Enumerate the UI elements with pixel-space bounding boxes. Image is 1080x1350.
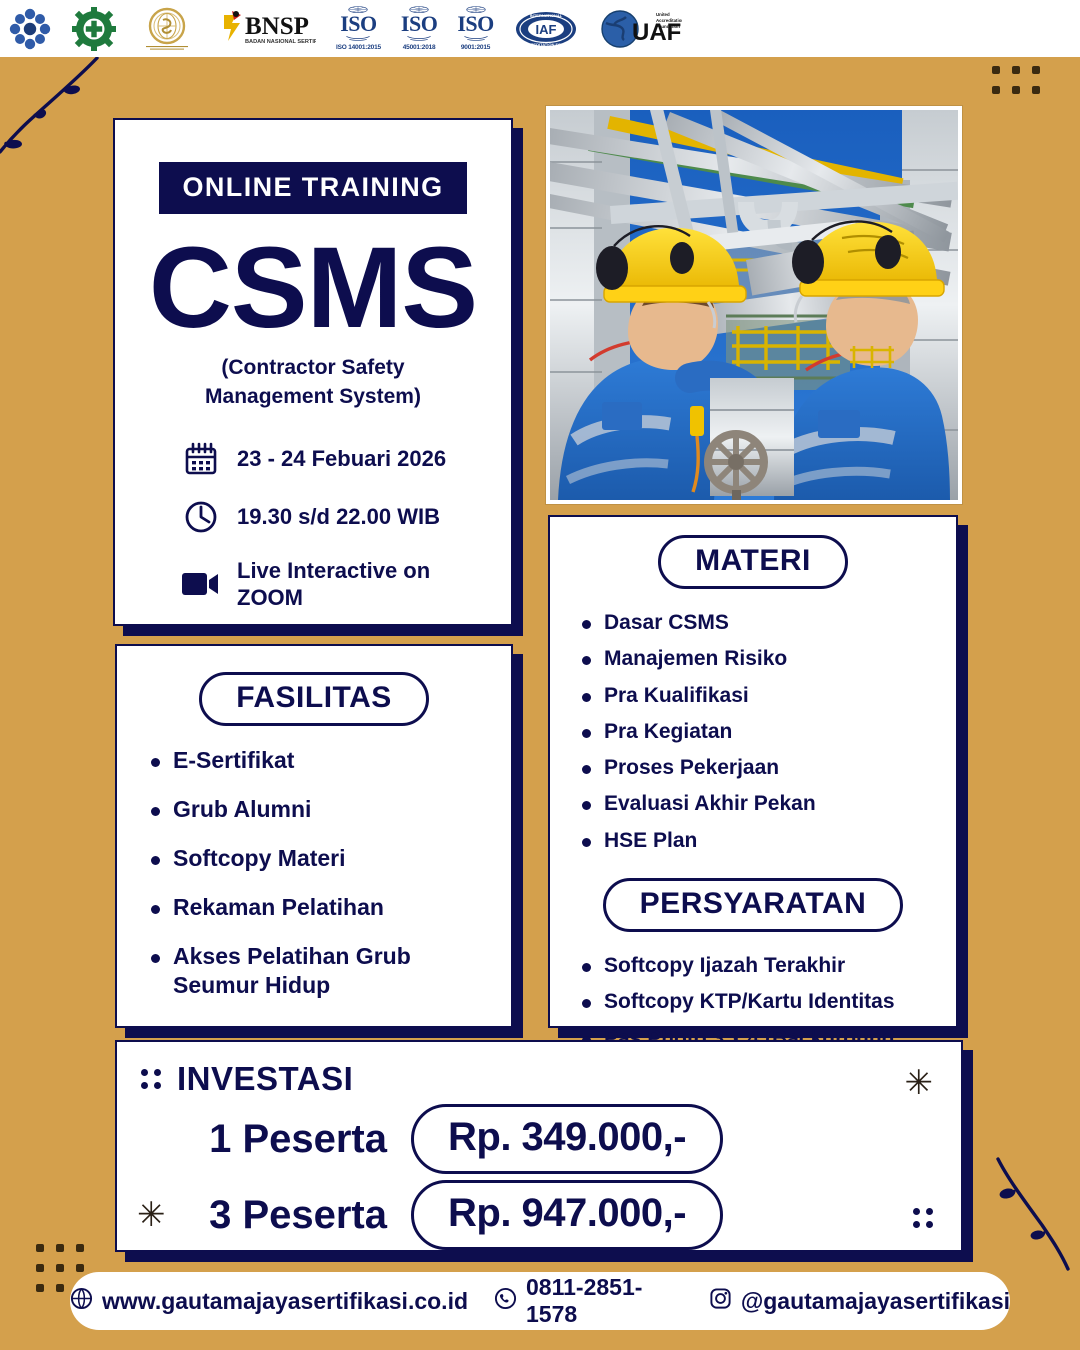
price-value: Rp. 349.000,- [411,1104,723,1174]
persyaratan-heading-wrap: PERSYARATAN [570,878,936,932]
iso-word: ISO [457,13,493,35]
list-item: Softcopy KTP/Kartu Identitas [570,988,936,1015]
contact-footer: www.gautamajayasertifikasi.co.id 0811-28… [70,1272,1010,1330]
k3-gear-cross-logo [72,6,116,52]
calendar-icon [181,441,221,477]
subtitle-line-2: Management System) [141,383,485,411]
price-value: Rp. 947.000,- [411,1180,723,1250]
video-camera-icon [181,569,221,599]
certification-logo-strip: BNSP BADAN NASIONAL SERTIFIKASI PROFESI … [0,0,1080,57]
list-item: E-Sertifikat [137,746,491,776]
iso-9001-logo: ISO 9001:2015 [457,6,493,52]
clock-icon [181,499,221,535]
svg-text:INTERNATIONAL: INTERNATIONAL [530,13,563,18]
fasilitas-list: E-Sertifikat Grub Alumni Softcopy Materi… [137,746,491,1001]
svg-text:Accreditation: Accreditation [656,18,682,23]
svg-text:IAF: IAF [535,22,556,37]
website-contact[interactable]: www.gautamajayasertifikasi.co.id [70,1287,468,1316]
list-item: Rekaman Pelatihan [137,893,491,923]
list-item: Dasar CSMS [570,609,936,636]
training-details: 23 - 24 Febuari 2026 19.30 s/d 22.00 WIB… [181,441,485,612]
bnsp-logo: BNSP BADAN NASIONAL SERTIFIKASI PROFESI [218,6,316,52]
investasi-card: INVESTASI 1 Peserta Rp. 349.000,- 3 Pese… [115,1040,963,1252]
list-item: Grub Alumni [137,795,491,825]
online-training-badge: ONLINE TRAINING [159,162,467,214]
dot-grid-top-right [992,66,1040,94]
list-item: Pra Kegiatan [570,718,936,745]
subtitle-line-1: (Contractor Safety [141,354,485,382]
detail-date: 23 - 24 Febuari 2026 [181,441,485,477]
iso-standard-label: 9001:2015 [461,45,490,52]
persyaratan-heading: PERSYARATAN [603,878,904,932]
svg-text:BNSP: BNSP [245,13,309,40]
price-label: 3 Peserta [187,1193,387,1238]
svg-text:ACCREDITATION FORUM: ACCREDITATION FORUM [522,42,571,47]
hero-card: ONLINE TRAINING CSMS (Contractor Safety … [113,118,513,626]
gautama-jaya-cluster-logo [8,6,52,52]
phone-contact[interactable]: 0811-2851-1578 [494,1274,683,1328]
company-seal-logo [136,6,198,52]
list-item: Manajemen Risiko [570,645,936,672]
investasi-heading: INVESTASI [177,1060,353,1098]
price-label: 1 Peserta [187,1117,387,1162]
list-item: Akses Pelatihan Grub Seumur Hidup [137,942,491,1002]
iaf-logo: IAF INTERNATIONAL ACCREDITATION FORUM [514,6,578,52]
detail-platform-text: Live Interactive on ZOOM [237,557,485,612]
website-text: www.gautamajayasertifikasi.co.id [102,1288,468,1315]
iso-14001-logo: ISO ISO 14001:2015 [336,6,381,52]
iso-word: ISO [401,13,437,35]
list-item: HSE Plan [570,827,936,854]
materi-heading-wrap: MATERI [570,535,936,589]
list-item: Softcopy Materi [137,844,491,874]
svg-text:Foundation: Foundation [656,24,680,29]
uaf-logo: UAF United Accreditation Foundation [598,6,682,52]
page-title: CSMS [141,226,485,350]
fasilitas-card: FASILITAS E-Sertifikat Grub Alumni Softc… [115,644,513,1028]
mini-dot-decoration [141,1069,161,1089]
instagram-contact[interactable]: @gautamajayasertifikasi [709,1287,1010,1316]
detail-time: 19.30 s/d 22.00 WIB [181,499,485,535]
starburst-icon-bottom-left: ✳ [137,1198,166,1232]
mini-dot-decoration-bottom-right [913,1208,933,1228]
iso-standard-label: 45001:2018 [403,45,436,52]
fasilitas-heading: FASILITAS [199,672,429,726]
svg-text:BADAN NASIONAL SERTIFIKASI PRO: BADAN NASIONAL SERTIFIKASI PROFESI [245,39,316,45]
starburst-icon-top-right: ✳ [905,1066,934,1100]
globe-icon [70,1287,93,1316]
detail-platform: Live Interactive on ZOOM [181,557,485,612]
investasi-header: INVESTASI [141,1060,937,1098]
list-item: Softcopy Ijazah Terakhir [570,952,936,979]
materi-persyaratan-card: MATERI Dasar CSMS Manajemen Risiko Pra K… [548,515,958,1028]
title-subtitle: (Contractor Safety Management System) [141,354,485,411]
fasilitas-heading-wrap: FASILITAS [137,672,491,726]
industrial-workers-photo [546,106,962,504]
list-item: Pra Kualifikasi [570,682,936,709]
svg-text:United: United [656,12,670,17]
phone-text: 0811-2851-1578 [526,1274,683,1328]
materi-list: Dasar CSMS Manajemen Risiko Pra Kualifik… [570,609,936,854]
price-row-1: 1 Peserta Rp. 349.000,- [187,1104,937,1174]
iso-45001-logo: ISO 45001:2018 [401,6,437,52]
vine-leaf-decoration-bottom-right [980,1155,1076,1278]
phone-icon [494,1287,517,1316]
list-item: Evaluasi Akhir Pekan [570,790,936,817]
detail-time-text: 19.30 s/d 22.00 WIB [237,503,440,531]
iso-standard-label: ISO 14001:2015 [336,45,381,52]
instagram-text: @gautamajayasertifikasi [741,1288,1010,1315]
detail-date-text: 23 - 24 Febuari 2026 [237,445,446,473]
iso-word: ISO [340,13,376,35]
instagram-icon [709,1287,732,1316]
vine-leaf-decoration-top-left [0,52,106,165]
list-item: Proses Pekerjaan [570,754,936,781]
materi-heading: MATERI [658,535,848,589]
price-row-2: 3 Peserta Rp. 947.000,- [187,1180,937,1250]
